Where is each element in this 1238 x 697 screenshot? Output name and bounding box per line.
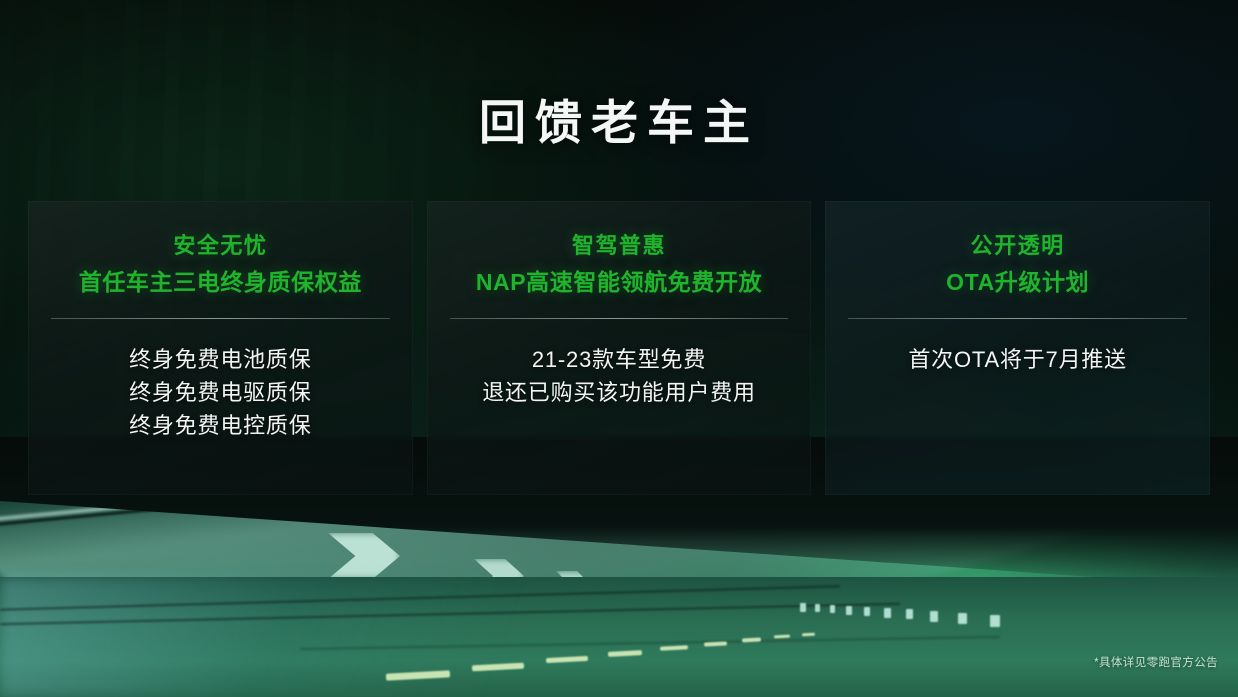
card-body-line: 终身免费电池质保 [50,343,391,376]
kerb-light [846,606,852,615]
card-body: 首次OTA将于7月推送 [847,343,1188,376]
kerb-light [958,613,967,624]
benefit-card-warranty[interactable]: 安全无忧 首任车主三电终身质保权益 终身免费电池质保 终身免费电驱质保 终身免费… [28,201,413,495]
card-body-line: 21-23款车型免费 [449,343,790,376]
kerb-light [815,604,820,612]
card-body-line: 退还已购买该功能用户费用 [449,376,790,409]
card-body-line: 终身免费电控质保 [50,409,391,442]
card-heading-line1: 安全无忧 [50,231,391,261]
card-heading-line2: NAP高速智能领航免费开放 [449,265,790,299]
benefit-card-row: 安全无忧 首任车主三电终身质保权益 终身免费电池质保 终身免费电驱质保 终身免费… [28,201,1210,495]
card-heading: 安全无忧 首任车主三电终身质保权益 [50,231,391,299]
kerb-light [906,609,913,619]
road-surface [0,577,1238,697]
card-body-line: 终身免费电驱质保 [50,376,391,409]
card-divider [848,318,1187,319]
kerb-light [830,605,835,613]
card-body: 终身免费电池质保 终身免费电驱质保 终身免费电控质保 [50,343,391,442]
page-title: 回馈老车主 [0,84,1238,153]
card-heading-line2: OTA升级计划 [847,265,1188,299]
card-heading-line2: 首任车主三电终身质保权益 [50,265,391,299]
card-divider [51,318,390,319]
benefit-card-ota[interactable]: 公开透明 OTA升级计划 首次OTA将于7月推送 [825,201,1210,495]
kerb-light [800,603,806,612]
card-heading-line1: 智驾普惠 [449,231,790,261]
kerb-light [884,608,891,618]
card-heading: 公开透明 OTA升级计划 [847,231,1188,299]
card-body: 21-23款车型免费 退还已购买该功能用户费用 [449,343,790,409]
card-heading: 智驾普惠 NAP高速智能领航免费开放 [449,231,790,299]
kerb-light [990,615,1000,627]
kerb-light [864,607,870,616]
benefit-card-nap[interactable]: 智驾普惠 NAP高速智能领航免费开放 21-23款车型免费 退还已购买该功能用户… [427,201,812,495]
card-divider [450,318,789,319]
footnote-disclaimer: *具体详见零跑官方公告 [1094,654,1218,670]
kerb-light [930,611,938,622]
card-heading-line1: 公开透明 [847,231,1188,261]
presentation-slide: 回馈老车主 安全无忧 首任车主三电终身质保权益 终身免费电池质保 终身免费电驱质… [0,0,1238,697]
card-body-line: 首次OTA将于7月推送 [847,343,1188,376]
